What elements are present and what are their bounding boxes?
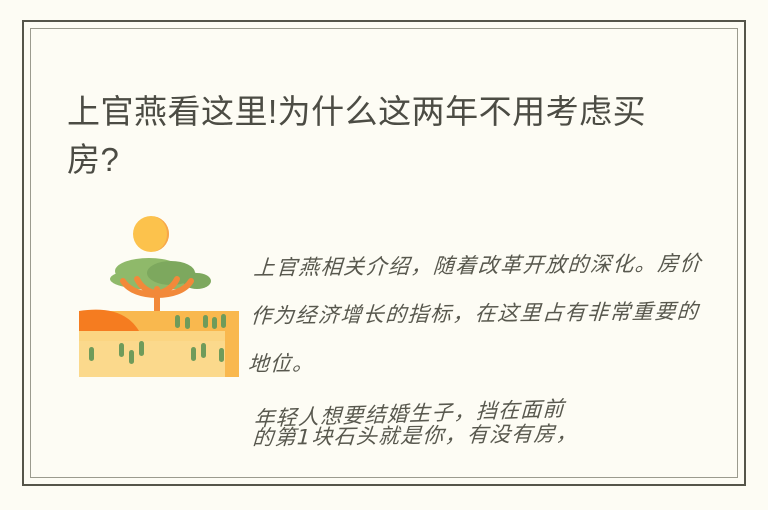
- article-body: 上官燕相关介绍，随着改革开放的深化。房价作为经济增长的指标，在这里占有非常重要的…: [67, 199, 717, 477]
- article-paragraph: 上官燕相关介绍，随着改革开放的深化。房价作为经济增长的指标，在这里占有非常重要的…: [246, 239, 703, 388]
- article-title: 上官燕看这里!为什么这两年不用考虑买房?: [67, 88, 687, 184]
- savanna-landscape-illustration: [79, 207, 239, 377]
- article-inner-frame: 上官燕看这里!为什么这两年不用考虑买房?: [30, 28, 738, 478]
- article-paragraph: 年轻人想要结婚生子，挡在面前 的第1块石头就是你，有没有房，: [251, 390, 703, 465]
- article-paragraph-line: 的第1块石头就是你，有没有房，: [251, 408, 702, 462]
- article-card: 上官燕看这里!为什么这两年不用考虑买房?: [22, 20, 746, 486]
- sun-icon: [133, 216, 169, 252]
